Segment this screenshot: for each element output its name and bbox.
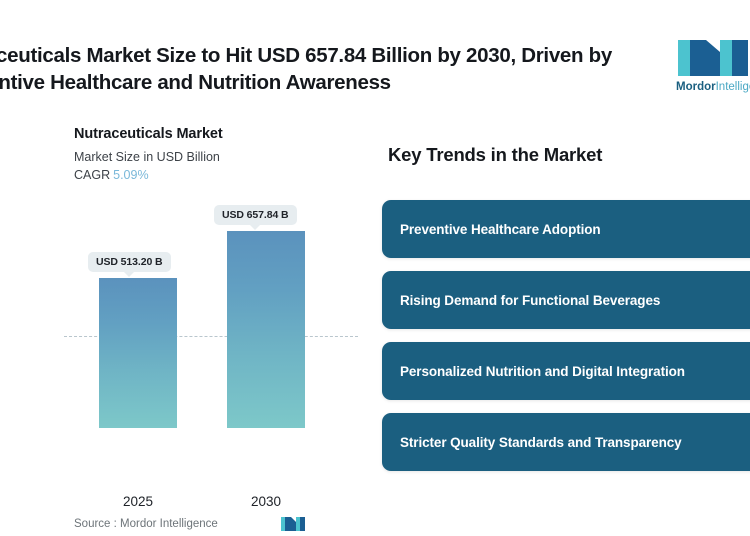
chart-plot-area: USD 513.20 B USD 657.84 B 2025 2030 Sour… [62,188,362,428]
bar-2025 [99,278,177,428]
chart-subtitle: Market Size in USD Billion [74,150,220,164]
trend-card[interactable]: Rising Demand for Functional Beverages [382,271,750,329]
trend-card-label: Rising Demand for Functional Beverages [382,293,674,308]
trend-card[interactable]: Preventive Healthcare Adoption [382,200,750,258]
key-trends-panel: Key Trends in the Market Preventive Heal… [382,136,750,476]
trend-card-label: Personalized Nutrition and Digital Integ… [382,364,699,379]
trends-heading: Key Trends in the Market [388,144,602,166]
x-axis-label-2030: 2030 [227,494,305,509]
bar-2030 [227,231,305,428]
cagr-label: CAGR [74,168,110,182]
market-size-chart: Nutraceuticals Market Market Size in USD… [62,126,362,476]
trend-card-label: Preventive Healthcare Adoption [382,222,615,237]
brand-name-secondary: Intelligence [716,81,750,93]
brand-logo: MordorIntelligence [676,36,750,100]
brand-name-primary: Mordor [676,81,716,93]
mordor-m-logo-icon [280,516,306,532]
chart-title: Nutraceuticals Market [74,126,223,142]
value-label-2030: USD 657.84 B [214,205,297,225]
header: Nutraceuticals Market Size to Hit USD 65… [0,0,750,118]
value-label-2025: USD 513.20 B [88,252,171,272]
page-title: Nutraceuticals Market Size to Hit USD 65… [0,42,684,96]
x-axis-label-2025: 2025 [99,494,177,509]
source-text: Source : Mordor Intelligence [74,518,218,530]
cagr-value: 5.09% [113,168,148,182]
trend-card-label: Stricter Quality Standards and Transpare… [382,435,696,450]
infographic-page: Nutraceuticals Market Size to Hit USD 65… [0,0,750,536]
trend-card[interactable]: Stricter Quality Standards and Transpare… [382,413,750,471]
chart-cagr: CAGR5.09% [74,168,149,182]
trend-card[interactable]: Personalized Nutrition and Digital Integ… [382,342,750,400]
brand-name: MordorIntelligence [676,80,750,94]
mordor-m-logo-icon [676,36,750,78]
